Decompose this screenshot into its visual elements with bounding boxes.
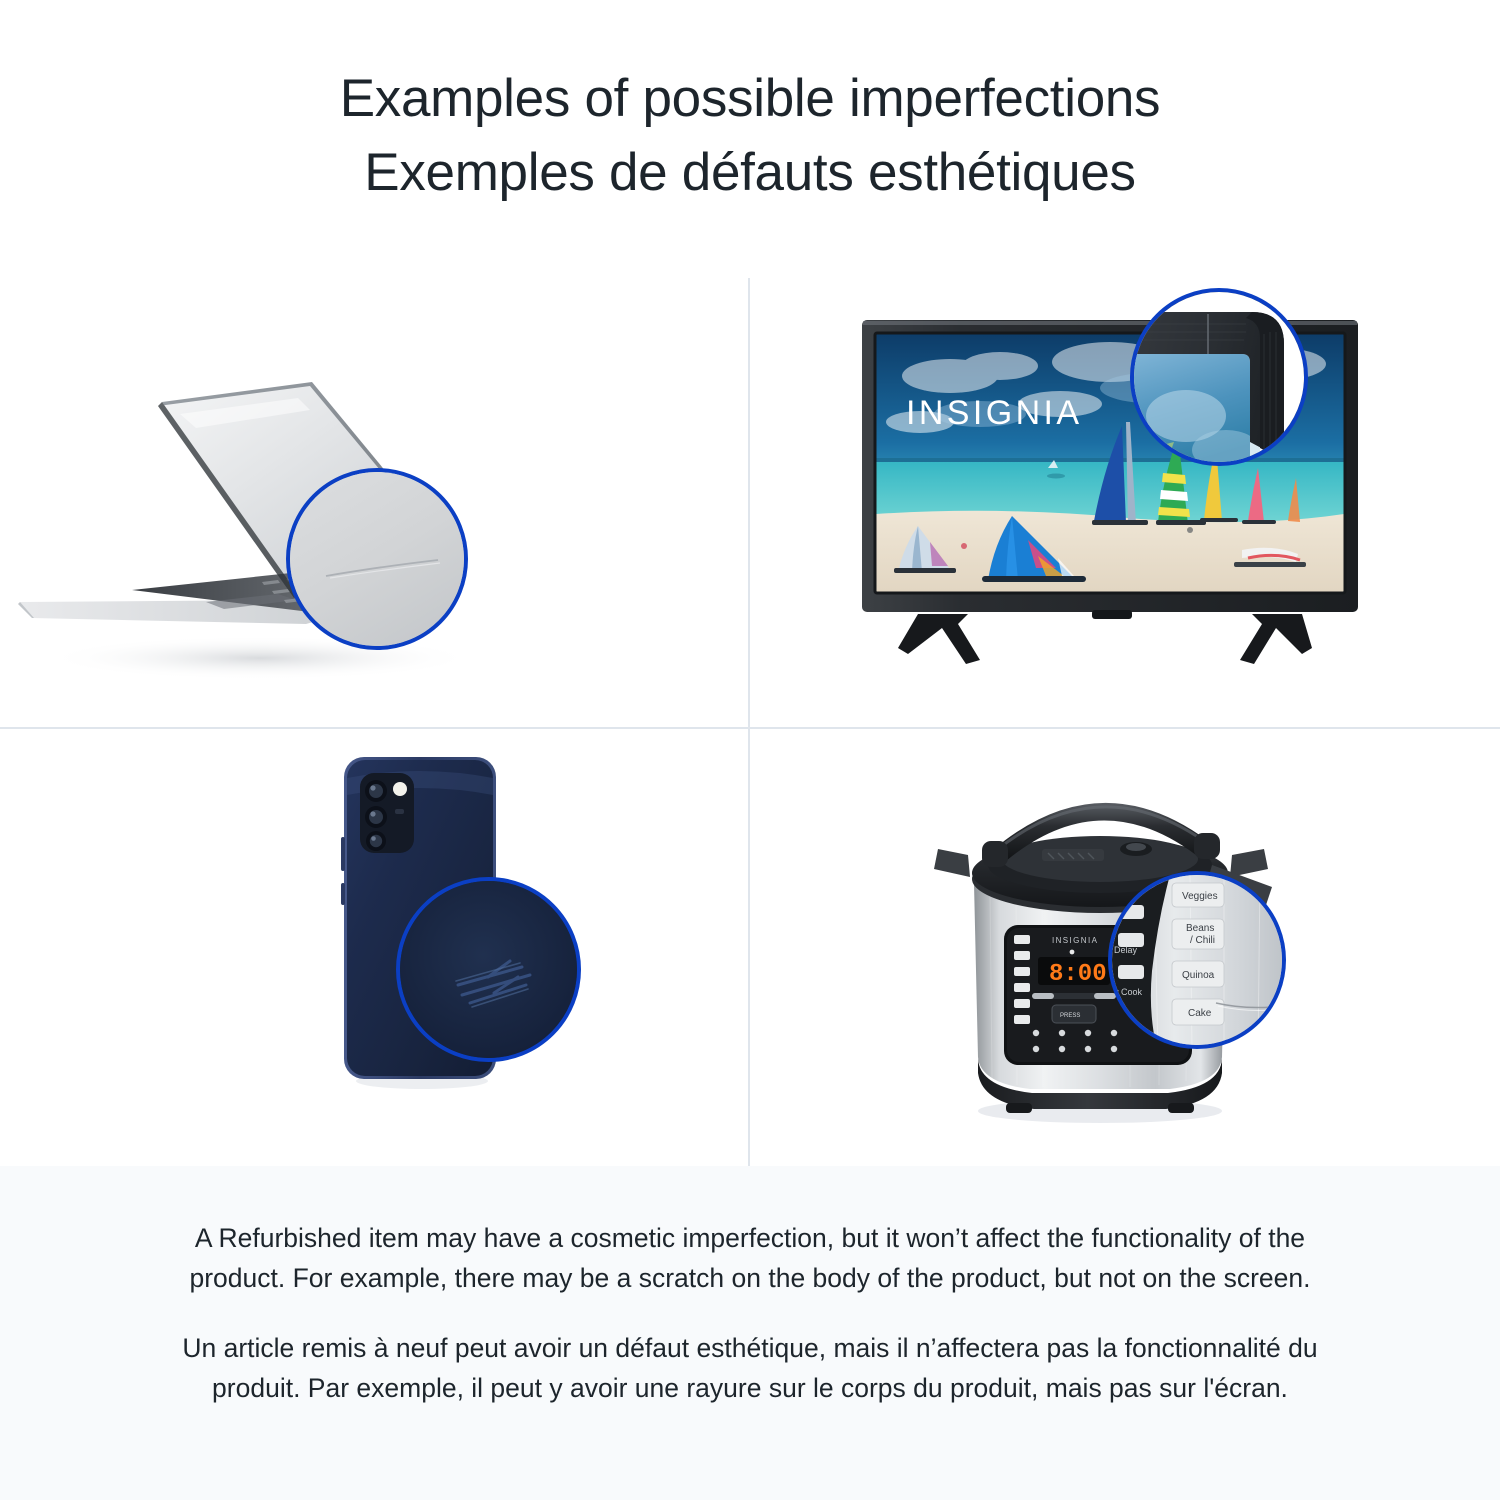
- tv-magnifier-circle: [1130, 288, 1308, 466]
- tv-screen-brand-text: INSIGNIA: [906, 394, 1082, 432]
- tile-pressure-cooker: INSIGNIA 8:00 PRESS: [750, 729, 1500, 1166]
- disclaimer-footer: A Refurbished item may have a cosmetic i…: [0, 1166, 1500, 1500]
- svg-text:Beans: Beans: [1186, 923, 1214, 934]
- phone-camera-module: [360, 773, 414, 853]
- cooker-magnifier-circle: Veggies Beans / Chili Quinoa Cake Delay …: [1108, 871, 1286, 1049]
- phone-illustration: [0, 729, 748, 1166]
- phone-flash: [393, 782, 407, 796]
- phone-power-button: [341, 883, 345, 905]
- cooker-display-value: 8:00: [1049, 961, 1107, 988]
- phone-magnified-scratches: [400, 881, 581, 1062]
- tile-phone: [0, 729, 748, 1166]
- svg-text:Quinoa: Quinoa: [1182, 970, 1215, 981]
- page-title-fr: Exemples de défauts esthétiques: [364, 136, 1135, 210]
- cooker-panel-brand-text: INSIGNIA: [1052, 936, 1098, 945]
- tv-magnified-corner: [1134, 292, 1308, 466]
- tile-tv: INSIGNIA: [750, 278, 1500, 727]
- disclaimer-text-fr: Un article remis à neuf peut avoir un dé…: [180, 1328, 1320, 1408]
- tv-illustration: INSIGNIA: [750, 278, 1500, 727]
- tv-stand-legs: [898, 614, 1312, 664]
- svg-text:Veggies: Veggies: [1182, 891, 1218, 902]
- cooker-lug-left: [934, 849, 970, 877]
- svg-text:w Cook: w Cook: [1112, 987, 1143, 997]
- tile-laptop: [0, 278, 748, 727]
- phone-volume-button: [341, 837, 345, 871]
- svg-text:/ Chili: / Chili: [1190, 935, 1215, 946]
- phone-magnifier-circle: [396, 877, 581, 1062]
- cooker-illustration: INSIGNIA 8:00 PRESS: [750, 729, 1500, 1166]
- page-title-en: Examples of possible imperfections: [340, 62, 1161, 136]
- svg-text:PRESS: PRESS: [1060, 1013, 1080, 1019]
- laptop-magnified-scratch: [290, 472, 468, 650]
- tv-ir-receiver: [1092, 610, 1132, 619]
- laptop-illustration: [0, 278, 748, 727]
- refurbished-imperfections-infographic: Examples of possible imperfections Exemp…: [0, 0, 1500, 1500]
- page-header: Examples of possible imperfections Exemp…: [0, 0, 1500, 258]
- cooker-lid-markings: [1042, 849, 1104, 861]
- laptop-magnifier-circle: [286, 468, 468, 650]
- svg-text:Cake: Cake: [1188, 1008, 1212, 1019]
- disclaimer-text-en: A Refurbished item may have a cosmetic i…: [180, 1218, 1320, 1298]
- product-examples-grid: INSIGNIA: [0, 278, 1500, 1166]
- cooker-lug-right: [1230, 849, 1268, 877]
- svg-text:Delay: Delay: [1114, 945, 1138, 955]
- tv-svg: INSIGNIA: [860, 318, 1390, 718]
- cooker-magnified-scratch: Veggies Beans / Chili Quinoa Cake Delay …: [1112, 875, 1286, 1049]
